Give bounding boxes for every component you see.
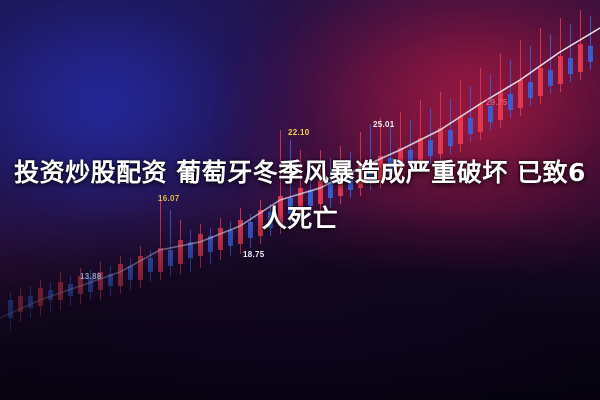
price-label: 25.01: [373, 120, 395, 129]
price-label: 29.75: [486, 98, 508, 107]
price-label: 22.10: [288, 128, 310, 137]
price-label: 13.88: [80, 272, 102, 281]
news-image: 29.7525.0122.1018.7516.0713.88 投资炒股配资 葡萄…: [0, 0, 600, 400]
headline-text: 投资炒股配资 葡萄牙冬季风暴造成严重破坏 已致6人死亡: [0, 150, 600, 242]
price-label: 18.75: [243, 250, 265, 259]
